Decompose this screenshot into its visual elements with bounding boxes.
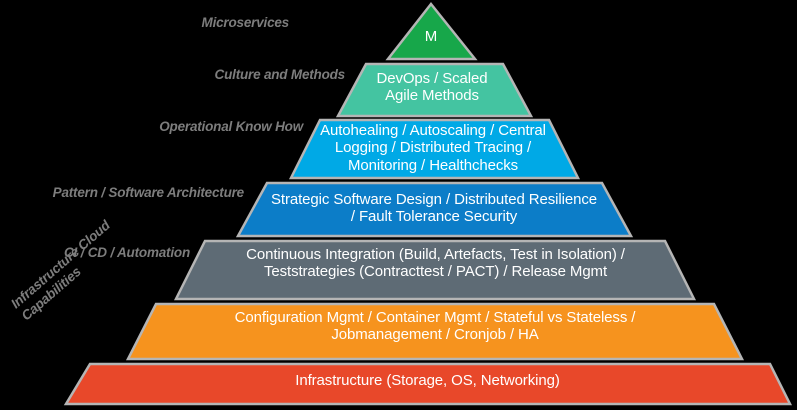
tier-label-microservices: Microservices <box>202 16 289 31</box>
tier-shape-pattern-software-architecture[interactable] <box>238 183 631 236</box>
tier-label-culture-and-methods: Culture and Methods <box>215 68 345 83</box>
tier-shape-ci-cd-automation[interactable] <box>176 241 694 299</box>
tier-shape-infrastructure-cloud-capabilities[interactable] <box>128 304 742 359</box>
tier-shape-infrastructure[interactable] <box>66 364 790 404</box>
tier-shape-operational-know-how[interactable] <box>291 120 578 178</box>
tier-shape-microservices[interactable] <box>388 4 475 59</box>
tier-label-pattern-software-architecture: Pattern / Software Architecture <box>5 186 244 201</box>
pyramid-shapes <box>0 0 797 410</box>
tier-shape-culture-and-methods[interactable] <box>338 64 531 116</box>
tier-label-operational-know-how: Operational Know How <box>120 120 303 135</box>
pyramid-diagram: M DevOps / Scaled Agile Methods Autoheal… <box>0 0 797 410</box>
